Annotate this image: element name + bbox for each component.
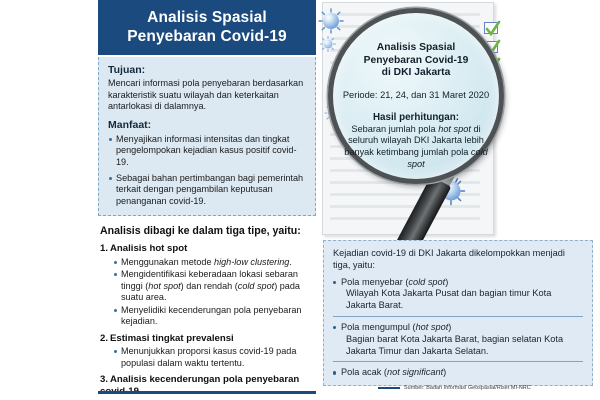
grouping-item-2: Pola mengumpul (hot spot) Bagian barat K… bbox=[333, 317, 583, 361]
type-title-1: 1.Analisis hot spot bbox=[100, 243, 316, 255]
lens-result-label: Hasil perhitungan: bbox=[340, 112, 492, 123]
type-number-3: 3. bbox=[100, 374, 110, 386]
grouping-detail-1: Wilayah Kota Jakarta Pusat dan bagian ti… bbox=[341, 288, 583, 312]
grouping-item-1: Pola menyebar (cold spot) Wilayah Kota J… bbox=[333, 272, 583, 316]
virus-particle-icon bbox=[320, 36, 336, 52]
lens-title-line2: Penyebaran Covid-19 bbox=[340, 55, 492, 68]
type-item-3: 3.Analisis kecenderungan pola penyebaran… bbox=[100, 374, 316, 400]
type-bullets-1: Menggunakan metode high-low clustering. … bbox=[114, 257, 316, 328]
grouping-title-3: Pola acak (not significant) bbox=[341, 367, 446, 377]
list-item: Menggunakan metode high-low clustering. bbox=[114, 257, 316, 269]
benefits-list: Menyajikan informasi intensitas dan ting… bbox=[108, 134, 306, 208]
bottom-divider bbox=[98, 391, 316, 394]
virus-particle-icon bbox=[318, 8, 344, 34]
checkbox-checked-icon[interactable] bbox=[484, 22, 498, 34]
source-text: Sumber: Badan Informasi Geospasial/Riset… bbox=[404, 385, 531, 391]
lens-period: Periode: 21, 24, dan 31 Maret 2020 bbox=[340, 89, 492, 101]
list-item: Menyelidiki kecenderungan pola penyebara… bbox=[114, 305, 316, 328]
purpose-label: Tujuan: bbox=[108, 64, 306, 76]
infographic-root: Analisis Spasial Penyebaran Covid-19 Tuj… bbox=[0, 0, 600, 400]
grouping-title-1: Pola menyebar (cold spot) bbox=[341, 277, 448, 287]
list-item: Mengidentifikasi keberadaan lokasi sebar… bbox=[114, 269, 316, 304]
list-item: Menyajikan informasi intensitas dan ting… bbox=[108, 134, 306, 169]
type-label-1: Analisis hot spot bbox=[110, 243, 187, 254]
type-label-2: Estimasi tingkat prevalensi bbox=[110, 333, 234, 344]
source-attribution: Sumber: Badan Informasi Geospasial/Riset… bbox=[378, 385, 598, 391]
grouping-intro: Kejadian covid-19 di DKI Jakarta dikelom… bbox=[333, 248, 583, 272]
grouping-title-2: Pola mengumpul (hot spot) bbox=[341, 322, 451, 332]
page-title: Analisis Spasial Penyebaran Covid-19 bbox=[98, 0, 316, 55]
purpose-text: Mencari informasi pola penyebaran berdas… bbox=[108, 78, 306, 113]
grouping-item-3: Pola acak (not significant) bbox=[333, 362, 583, 383]
left-column: Analisis Spasial Penyebaran Covid-19 Tuj… bbox=[98, 0, 316, 400]
list-item: Menunjukkan proporsi kasus covid-19 pada… bbox=[114, 346, 316, 369]
lens-result-text: Sebaran jumlah pola hot spot di seluruh … bbox=[340, 124, 492, 170]
purpose-benefit-box: Tujuan: Mencari informasi pola penyebara… bbox=[98, 57, 316, 216]
list-item: Sebagai bahan pertimbangan bagi pemerint… bbox=[108, 173, 306, 208]
page-title-line2: Penyebaran Covid-19 bbox=[104, 27, 310, 46]
lens-title-line3: di DKI Jakarta bbox=[340, 67, 492, 80]
benefits-label: Manfaat: bbox=[108, 119, 306, 131]
type-number-2: 2. bbox=[100, 333, 110, 345]
right-column: Analisis Spasial Penyebaran Covid-19 di … bbox=[318, 0, 600, 400]
type-bullets-2: Menunjukkan proporsi kasus covid-19 pada… bbox=[114, 346, 316, 369]
grouping-detail-2: Bagian barat Kota Jakarta Barat, bagian … bbox=[341, 334, 583, 358]
type-number-1: 1. bbox=[100, 243, 110, 255]
type-item-2: 2.Estimasi tingkat prevalensi Menunjukka… bbox=[100, 333, 316, 370]
type-item-1: 1.Analisis hot spot Menggunakan metode h… bbox=[100, 243, 316, 328]
lens-callout: Analisis Spasial Penyebaran Covid-19 di … bbox=[340, 42, 492, 170]
source-dash bbox=[378, 387, 400, 389]
grouping-box: Kejadian covid-19 di DKI Jakarta dikelom… bbox=[323, 240, 593, 386]
page-title-line1: Analisis Spasial bbox=[104, 8, 310, 27]
type-title-2: 2.Estimasi tingkat prevalensi bbox=[100, 333, 316, 345]
lens-title-line1: Analisis Spasial bbox=[340, 42, 492, 55]
types-heading: Analisis dibagi ke dalam tiga tipe, yait… bbox=[100, 225, 316, 237]
